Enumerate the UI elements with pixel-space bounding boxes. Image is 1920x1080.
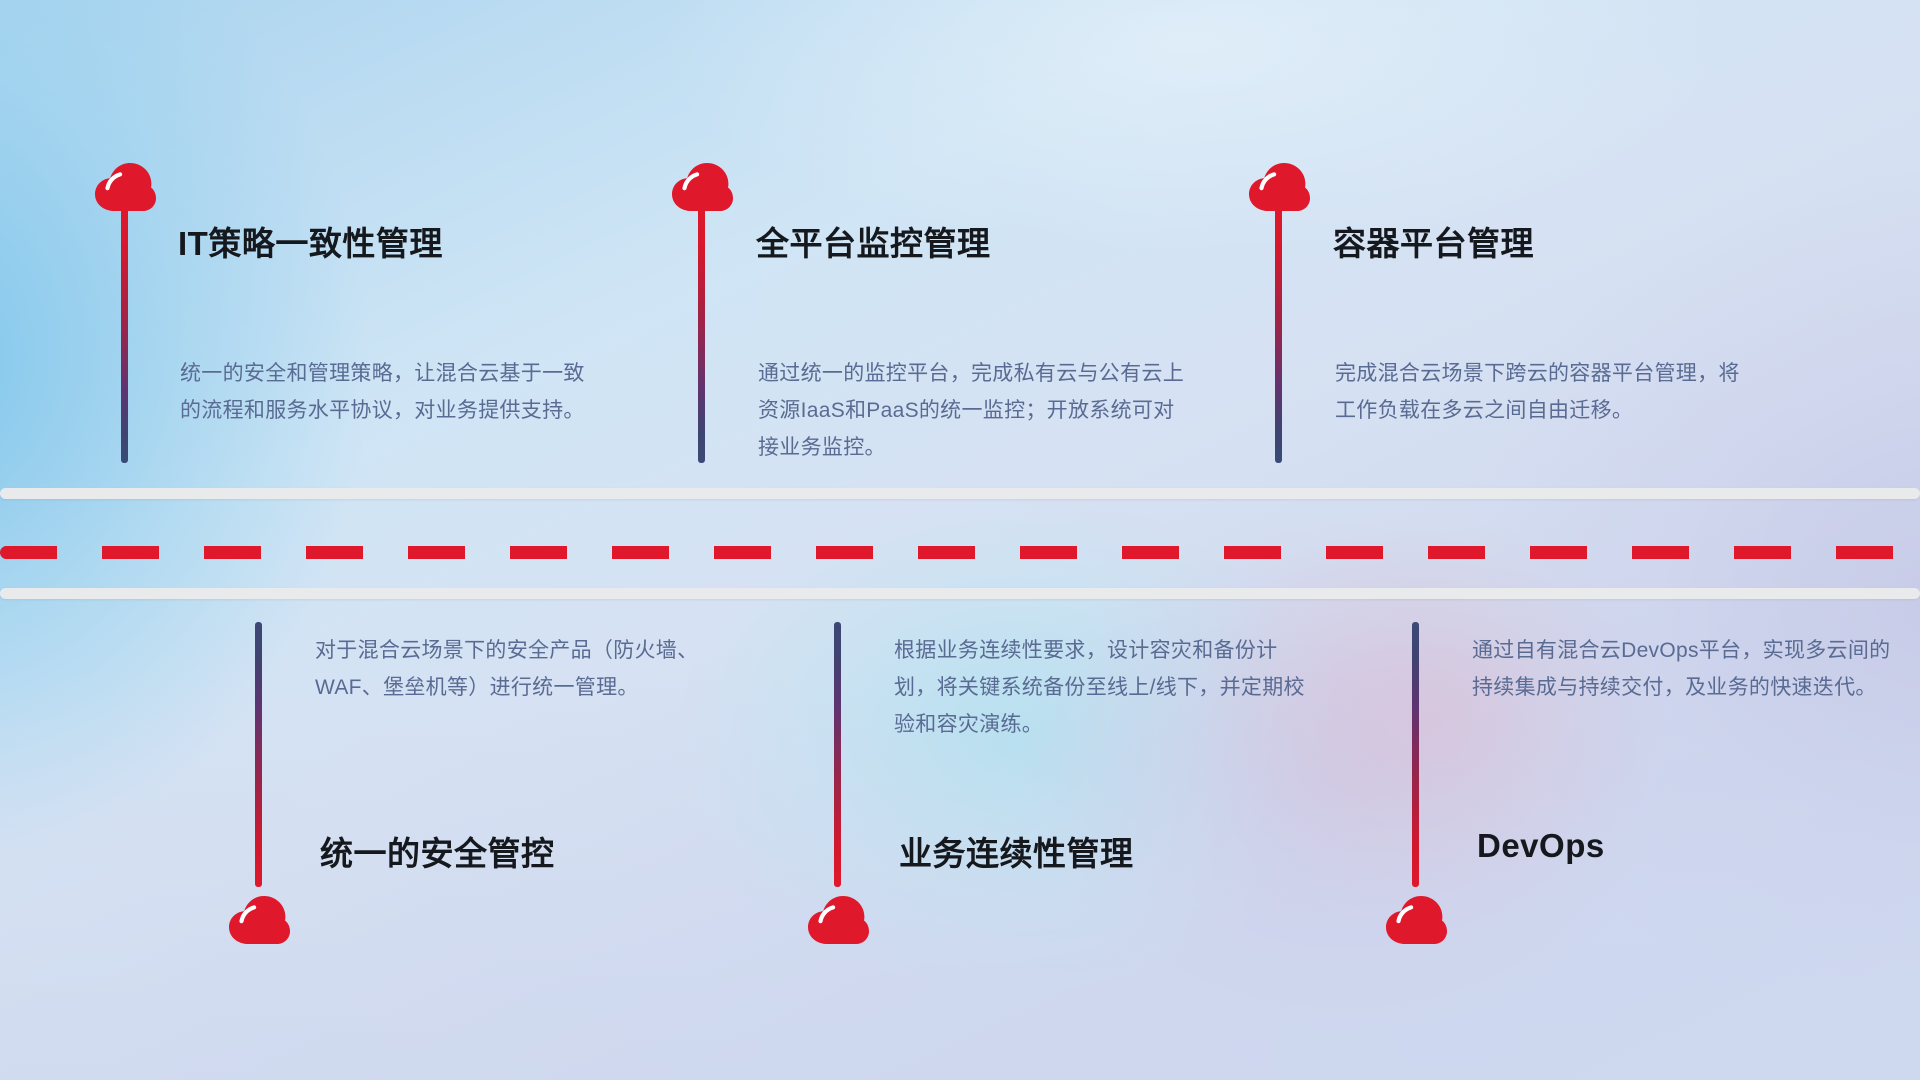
card-title: 业务连续性管理 (899, 827, 1134, 875)
infographic-canvas: IT策略一致性管理 统一的安全和管理策略，让混合云基于一致的流程和服务水平协议，… (0, 0, 1920, 1080)
card-description: 统一的安全和管理策略，让混合云基于一致的流程和服务水平协议，对业务提供支持。 (180, 355, 598, 429)
card-title: 全平台监控管理 (756, 217, 991, 265)
pin-stem (255, 622, 262, 887)
cloud-icon (807, 895, 869, 945)
card-description: 完成混合云场景下跨云的容器平台管理，将工作负载在多云之间自由迁移。 (1335, 355, 1755, 429)
pin-stem (834, 622, 841, 887)
pin-stem (1412, 622, 1419, 887)
card-title: IT策略一致性管理 (178, 217, 443, 265)
card-description: 通过自有混合云DevOps平台，实现多云间的持续集成与持续交付，及业务的快速迭代… (1472, 632, 1892, 706)
card-title: 统一的安全管控 (320, 827, 555, 875)
pin-stem (1275, 205, 1282, 463)
card-description: 根据业务连续性要求，设计容灾和备份计划，将关键系统备份至线上/线下，并定期校验和… (894, 632, 1314, 743)
pin-stem (698, 205, 705, 463)
card-title: 容器平台管理 (1333, 217, 1534, 265)
card-description: 通过统一的监控平台，完成私有云与公有云上资源IaaS和PaaS的统一监控；开放系… (758, 355, 1190, 466)
card-description: 对于混合云场景下的安全产品（防火墙、WAF、堡垒机等）进行统一管理。 (315, 632, 735, 706)
road-rail-bottom (0, 588, 1920, 599)
cloud-icon (228, 895, 290, 945)
card-title: DevOps (1477, 827, 1605, 865)
road-rail-top (0, 488, 1920, 499)
cloud-icon (1385, 895, 1447, 945)
road-center-dashes (0, 546, 1920, 559)
pin-stem (121, 205, 128, 463)
